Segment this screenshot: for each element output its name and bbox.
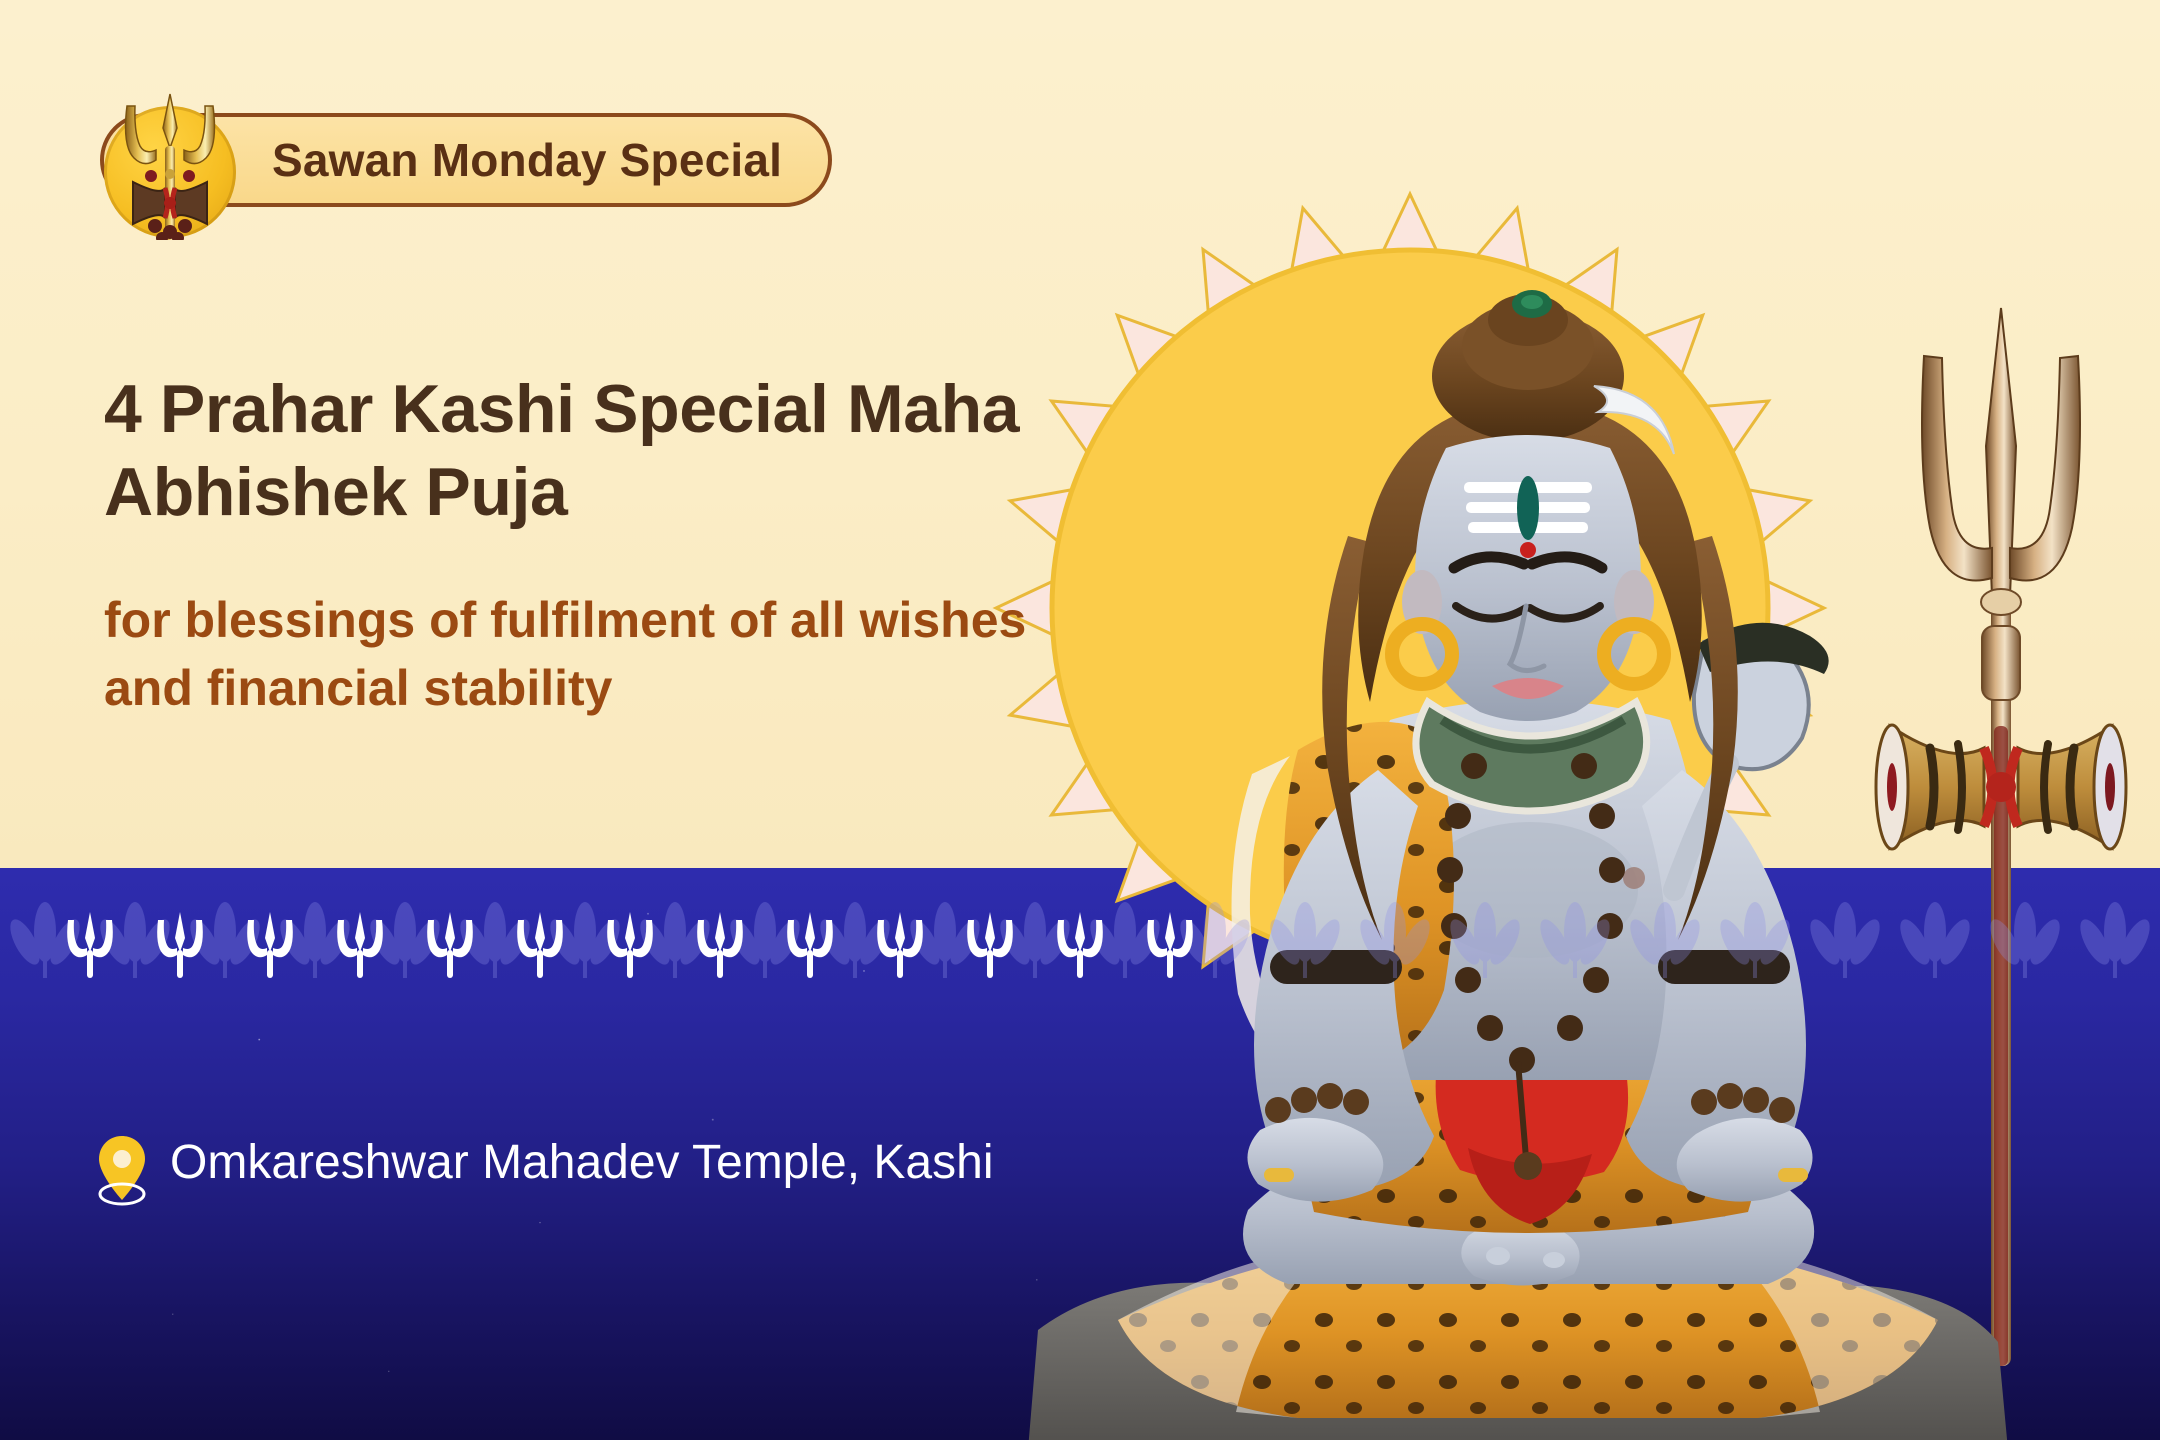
- puja-promo-banner: Sawan Monday Special: [0, 0, 2160, 1440]
- trident-icon: [855, 912, 945, 978]
- trident-icon: [765, 912, 855, 978]
- lord-shiva-figure: [998, 250, 2058, 1440]
- shiva-artwork: [980, 0, 2160, 1440]
- trident-icon: [585, 912, 675, 978]
- trident-damru-icon: [104, 106, 236, 238]
- promo-badge[interactable]: Sawan Monday Special: [104, 86, 832, 234]
- location-label: Omkareshwar Mahadev Temple, Kashi: [170, 1128, 993, 1198]
- trident-icon: [45, 912, 135, 978]
- location-row: Omkareshwar Mahadev Temple, Kashi: [96, 1128, 996, 1211]
- trident-icon: [1035, 912, 1125, 978]
- trident-icon: [1125, 912, 1215, 978]
- trident-icon: [675, 912, 765, 978]
- trident-icon: [315, 912, 405, 978]
- page-subtitle: for blessings of fulfilment of all wishe…: [104, 586, 1064, 722]
- badge-label: Sawan Monday Special: [272, 133, 782, 187]
- trident-icon: [225, 912, 315, 978]
- trident-icon: [135, 912, 225, 978]
- trident-icon: [945, 912, 1035, 978]
- trident-lotus-border: [0, 886, 2160, 978]
- map-pin-icon: [96, 1134, 148, 1211]
- trident-icon: [495, 912, 585, 978]
- page-title: 4 Prahar Kashi Special Maha Abhishek Puj…: [104, 368, 1114, 534]
- trident-icon: [405, 912, 495, 978]
- trident-motif-row: [45, 902, 2160, 978]
